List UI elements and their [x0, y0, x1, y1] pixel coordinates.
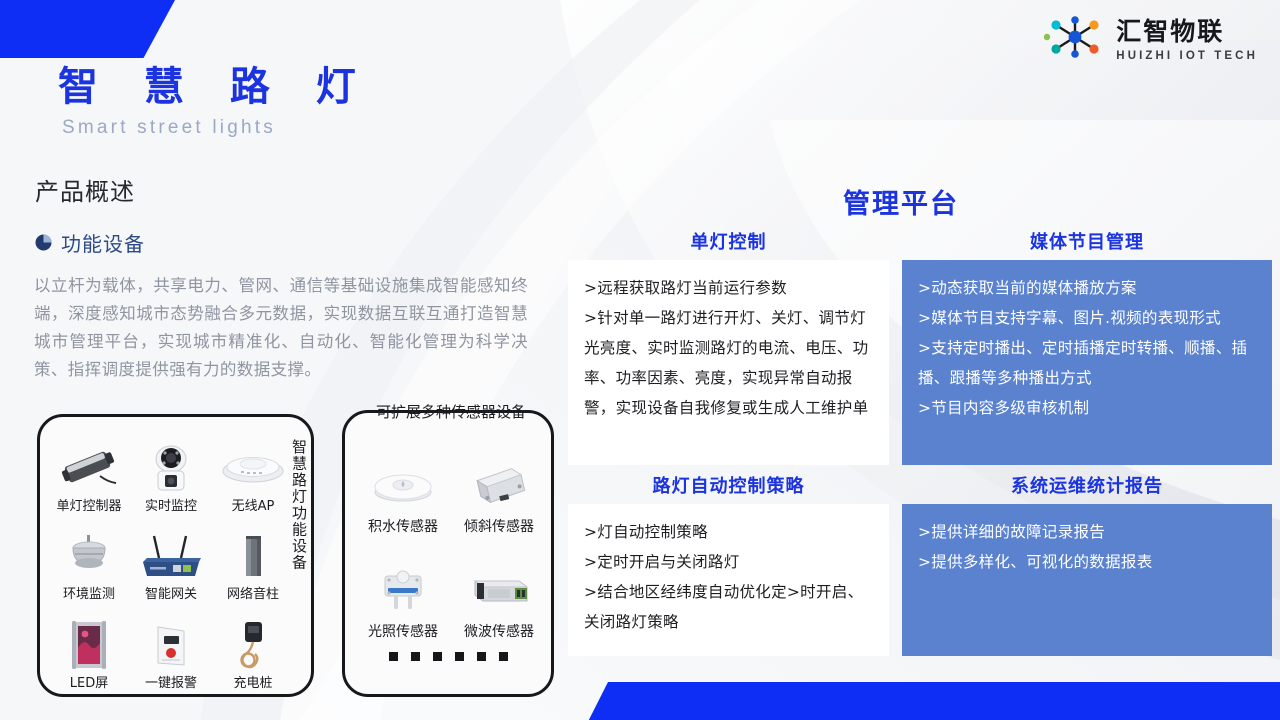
- device-label: 网络音柱: [227, 583, 279, 602]
- more-dot: [411, 652, 420, 661]
- device-label: 单灯控制器: [56, 495, 121, 514]
- pie-chart-icon: [35, 234, 52, 251]
- card-line: >针对单一路灯进行开灯、关灯、调节灯光亮度、实时监测路灯的电流、电压、功率、功率…: [584, 303, 875, 423]
- card-line: >媒体节目支持字幕、图片.视频的表现形式: [918, 303, 1258, 333]
- sensor-label: 倾斜传感器: [464, 516, 534, 536]
- device-item[interactable]: 智能网关: [130, 514, 212, 603]
- device-item[interactable]: LED屏: [48, 602, 130, 691]
- card-line: >定时开启与关闭路灯: [584, 547, 875, 577]
- water-level-sensor-icon: [360, 458, 446, 514]
- devices-panel-vertical-label: 智慧路灯功能设备: [282, 439, 306, 571]
- card-line: >节目内容多级审核机制: [918, 393, 1258, 423]
- more-dot: [455, 652, 464, 661]
- more-dot: [477, 652, 486, 661]
- molecule-network-icon: [1044, 16, 1106, 58]
- page-subtitle: Smart street lights: [62, 117, 372, 139]
- device-item[interactable]: 单灯控制器: [48, 425, 130, 514]
- platform-title: 管理平台: [843, 182, 959, 221]
- brand-logo: 汇智物联 HUIZHI IOT TECH: [1044, 12, 1258, 62]
- sensors-panel-title: 可扩展多种传感器设备: [355, 401, 547, 422]
- sensor-label: 积水传感器: [368, 516, 438, 536]
- device-label: 无线AP: [232, 495, 275, 514]
- card-ops-statistics-report: 系统运维统计报告 >提供详细的故障记录报告 >提供多样化、可视化的数据报表: [902, 472, 1272, 656]
- card-line: >提供详细的故障记录报告: [918, 517, 1258, 547]
- card-line: >支持定时播出、定时插播定时转播、顺播、插播、跟播等多种播出方式: [918, 333, 1258, 393]
- logo-name-cn: 汇智物联: [1116, 12, 1258, 48]
- card-line: >结合地区经纬度自动优化定>时开启、关闭路灯策略: [584, 577, 875, 637]
- page-title-block: 智 慧 路 灯 Smart street lights: [58, 64, 372, 139]
- device-item[interactable]: 实时监控: [130, 425, 212, 514]
- sensor-item[interactable]: 积水传感器: [355, 431, 451, 536]
- sensor-label: 微波传感器: [464, 621, 534, 641]
- device-label: 一键报警: [145, 672, 197, 691]
- sensor-item[interactable]: 光照传感器: [355, 536, 451, 641]
- light-sensor-icon: [360, 563, 446, 619]
- smart-gateway-icon: [133, 531, 209, 581]
- device-item[interactable]: 一键报警: [130, 602, 212, 691]
- charging-pile-icon: [215, 620, 291, 670]
- sensors-more-indicator: [345, 652, 551, 661]
- card-body: >提供详细的故障记录报告 >提供多样化、可视化的数据报表: [902, 504, 1272, 656]
- card-title: 单灯控制: [568, 228, 889, 254]
- card-body: >远程获取路灯当前运行参数 >针对单一路灯进行开灯、关灯、调节灯光亮度、实时监测…: [568, 260, 889, 465]
- device-label: 充电桩: [233, 672, 272, 691]
- wireless-ap-icon: [215, 443, 291, 493]
- network-speaker-icon: [215, 531, 291, 581]
- product-description: 以立杆为载体，共享电力、管网、通信等基础设施集成智能感知终端，深度感知城市态势融…: [34, 272, 528, 384]
- section-heading-overview: 产品概述: [35, 172, 135, 207]
- card-line: >远程获取路灯当前运行参数: [584, 273, 875, 303]
- microwave-sensor-icon: [456, 563, 542, 619]
- more-dot: [389, 652, 398, 661]
- card-line: >提供多样化、可视化的数据报表: [918, 547, 1258, 577]
- more-dot: [433, 652, 442, 661]
- card-media-program-management: 媒体节目管理 >动态获取当前的媒体播放方案 >媒体节目支持字幕、图片.视频的表现…: [902, 228, 1272, 465]
- more-dot: [499, 652, 508, 661]
- card-line: >动态获取当前的媒体播放方案: [918, 273, 1258, 303]
- sensors-grid: 积水传感器 倾斜传感器: [355, 431, 547, 641]
- card-title: 媒体节目管理: [902, 228, 1272, 254]
- sensor-label: 光照传感器: [368, 621, 438, 641]
- card-line: >灯自动控制策略: [584, 517, 875, 547]
- card-body: >动态获取当前的媒体播放方案 >媒体节目支持字幕、图片.视频的表现形式 >支持定…: [902, 260, 1272, 465]
- card-title: 系统运维统计报告: [902, 472, 1272, 498]
- device-label: 环境监测: [63, 583, 115, 602]
- card-body: >灯自动控制策略 >定时开启与关闭路灯 >结合地区经纬度自动优化定>时开启、关闭…: [568, 504, 889, 656]
- led-screen-icon: [51, 620, 127, 670]
- sensor-item[interactable]: 微波传感器: [451, 536, 547, 641]
- ptz-camera-icon: [133, 443, 209, 493]
- sensors-panel: 可扩展多种传感器设备 积水传感器: [342, 410, 554, 697]
- card-title: 路灯自动控制策略: [568, 472, 889, 498]
- logo-name-en: HUIZHI IOT TECH: [1116, 50, 1258, 62]
- device-label: 智能网关: [145, 583, 197, 602]
- lamp-controller-icon: [51, 443, 127, 493]
- device-label: 实时监控: [145, 495, 197, 514]
- device-label: LED屏: [70, 672, 108, 691]
- card-single-lamp-control: 单灯控制 >远程获取路灯当前运行参数 >针对单一路灯进行开灯、关灯、调节灯光亮度…: [568, 228, 889, 465]
- sensor-item[interactable]: 倾斜传感器: [451, 431, 547, 536]
- tilt-sensor-icon: [456, 458, 542, 514]
- feature-devices-label: 功能设备: [61, 228, 145, 257]
- environment-sensor-icon: [51, 531, 127, 581]
- device-item[interactable]: 环境监测: [48, 514, 130, 603]
- page-title: 智 慧 路 灯: [58, 64, 372, 110]
- device-item[interactable]: 充电桩: [212, 602, 294, 691]
- card-auto-control-strategy: 路灯自动控制策略 >灯自动控制策略 >定时开启与关闭路灯 >结合地区经纬度自动优…: [568, 472, 889, 656]
- devices-panel: 单灯控制器 实时监控: [37, 414, 314, 697]
- emergency-alarm-icon: [133, 620, 209, 670]
- devices-grid: 单灯控制器 实时监控: [48, 425, 294, 691]
- feature-devices-heading: 功能设备: [35, 228, 145, 257]
